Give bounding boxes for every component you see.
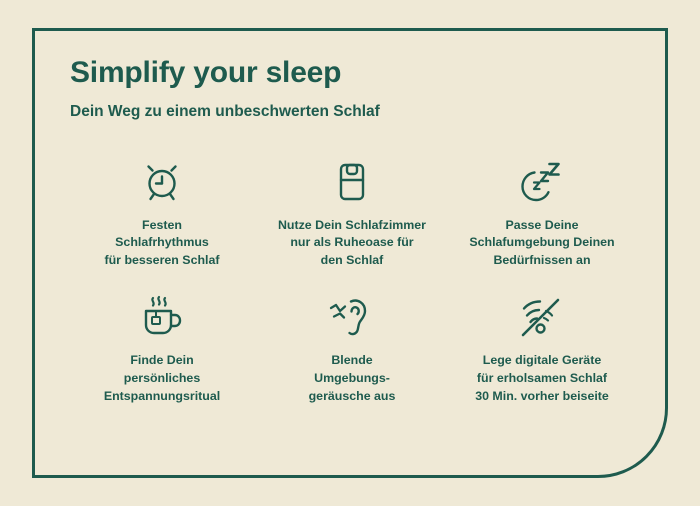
tip-label: Festen Schlafrhythmus für besseren Schla…	[104, 217, 219, 270]
wifi-off-icon	[513, 291, 571, 343]
moon-zzz-icon	[513, 156, 571, 208]
tip-label: Nutze Dein Schlafzimmer nur als Ruheoase…	[278, 217, 426, 270]
tip-label: Blende Umgebungs- geräusche aus	[309, 352, 396, 405]
tip-item-relaxation-ritual: Finde Dein persönliches Entspannungsritu…	[70, 291, 254, 405]
tip-item-digital-devices: Lege digitale Geräte für erholsamen Schl…	[450, 291, 634, 405]
page-subtitle: Dein Weg zu einem unbeschwerten Schlaf	[70, 103, 634, 122]
sleep-tips-poster: Simplify your sleep Dein Weg zu einem un…	[0, 0, 700, 506]
tip-label: Lege digitale Geräte für erholsamen Schl…	[475, 352, 609, 405]
ear-soundwave-icon	[323, 291, 381, 343]
tip-item-bedroom: Nutze Dein Schlafzimmer nur als Ruheoase…	[260, 156, 444, 270]
bed-icon	[323, 156, 381, 208]
poster-content: Simplify your sleep Dein Weg zu einem un…	[32, 28, 668, 478]
page-title: Simplify your sleep	[70, 56, 634, 89]
tip-label: Passe Deine Schlafumgebung Deinen Bedürf…	[469, 217, 614, 270]
tip-label: Finde Dein persönliches Entspannungsritu…	[104, 352, 220, 405]
tips-grid: Festen Schlafrhythmus für besseren Schla…	[70, 156, 634, 406]
tip-item-block-noise: Blende Umgebungs- geräusche aus	[260, 291, 444, 405]
alarm-clock-icon	[133, 156, 191, 208]
tip-item-sleep-environment: Passe Deine Schlafumgebung Deinen Bedürf…	[450, 156, 634, 270]
tip-item-sleep-rhythm: Festen Schlafrhythmus für besseren Schla…	[70, 156, 254, 270]
tea-cup-icon	[133, 291, 191, 343]
